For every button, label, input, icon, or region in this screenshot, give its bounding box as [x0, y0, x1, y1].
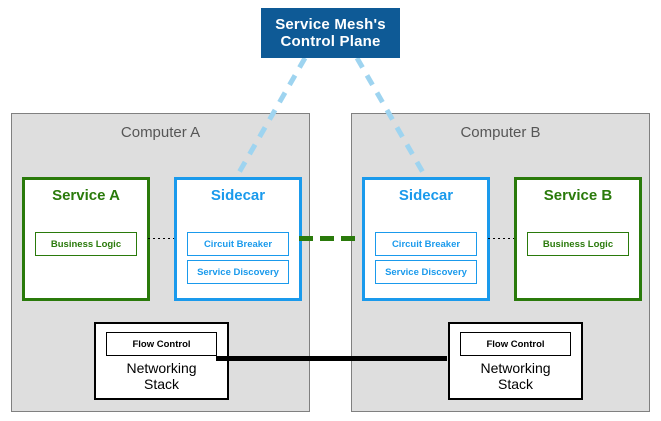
networking-stack-a-line2: Stack [144, 376, 179, 392]
sidecar-b-service-discovery-box[interactable]: Service Discovery [375, 260, 477, 284]
flow-control-a-box[interactable]: Flow Control [106, 332, 217, 356]
service-a-title: Service A [25, 187, 147, 204]
sidecar-a-panel[interactable]: Sidecar Circuit Breaker Service Discover… [174, 177, 302, 301]
sidecar-a-title: Sidecar [177, 187, 299, 204]
service-a-panel[interactable]: Service A Business Logic [22, 177, 150, 301]
sidecar-b-to-service-b-link [488, 238, 514, 239]
networking-stack-a-line1: Networking [126, 360, 196, 376]
control-plane-line1: Service Mesh's [275, 16, 386, 33]
service-b-title: Service B [517, 187, 639, 204]
computer-b-container[interactable]: Computer B Sidecar Circuit Breaker Servi… [351, 113, 650, 412]
networking-stack-b-label: Networking Stack [454, 360, 577, 392]
sidecar-b-title: Sidecar [365, 187, 487, 204]
service-b-business-logic-box[interactable]: Business Logic [527, 232, 629, 256]
service-a-business-logic-box[interactable]: Business Logic [35, 232, 137, 256]
control-plane-box[interactable]: Service Mesh's Control Plane [261, 8, 400, 58]
flow-control-b-box[interactable]: Flow Control [460, 332, 571, 356]
sidecar-b-circuit-breaker-box[interactable]: Circuit Breaker [375, 232, 477, 256]
networking-stack-b-line2: Stack [498, 376, 533, 392]
networking-stack-b-line1: Networking [480, 360, 550, 376]
computer-a-label: Computer A [12, 124, 309, 141]
computer-a-container[interactable]: Computer A Service A Business Logic Side… [11, 113, 310, 412]
sidecar-a-circuit-breaker-box[interactable]: Circuit Breaker [187, 232, 289, 256]
diagram-canvas: Service Mesh's Control Plane Computer A … [0, 0, 661, 421]
computer-b-label: Computer B [352, 124, 649, 141]
sidecar-a-service-discovery-box[interactable]: Service Discovery [187, 260, 289, 284]
sidecar-b-panel[interactable]: Sidecar Circuit Breaker Service Discover… [362, 177, 490, 301]
networking-stack-a-label: Networking Stack [100, 360, 223, 392]
service-b-panel[interactable]: Service B Business Logic [514, 177, 642, 301]
networking-stack-a-box[interactable]: Flow Control Networking Stack [94, 322, 229, 400]
networking-stack-link [216, 356, 447, 361]
control-plane-line2: Control Plane [280, 33, 380, 50]
service-a-to-sidecar-a-link [148, 238, 174, 239]
networking-stack-b-box[interactable]: Flow Control Networking Stack [448, 322, 583, 400]
sidecar-to-sidecar-link [299, 236, 362, 241]
